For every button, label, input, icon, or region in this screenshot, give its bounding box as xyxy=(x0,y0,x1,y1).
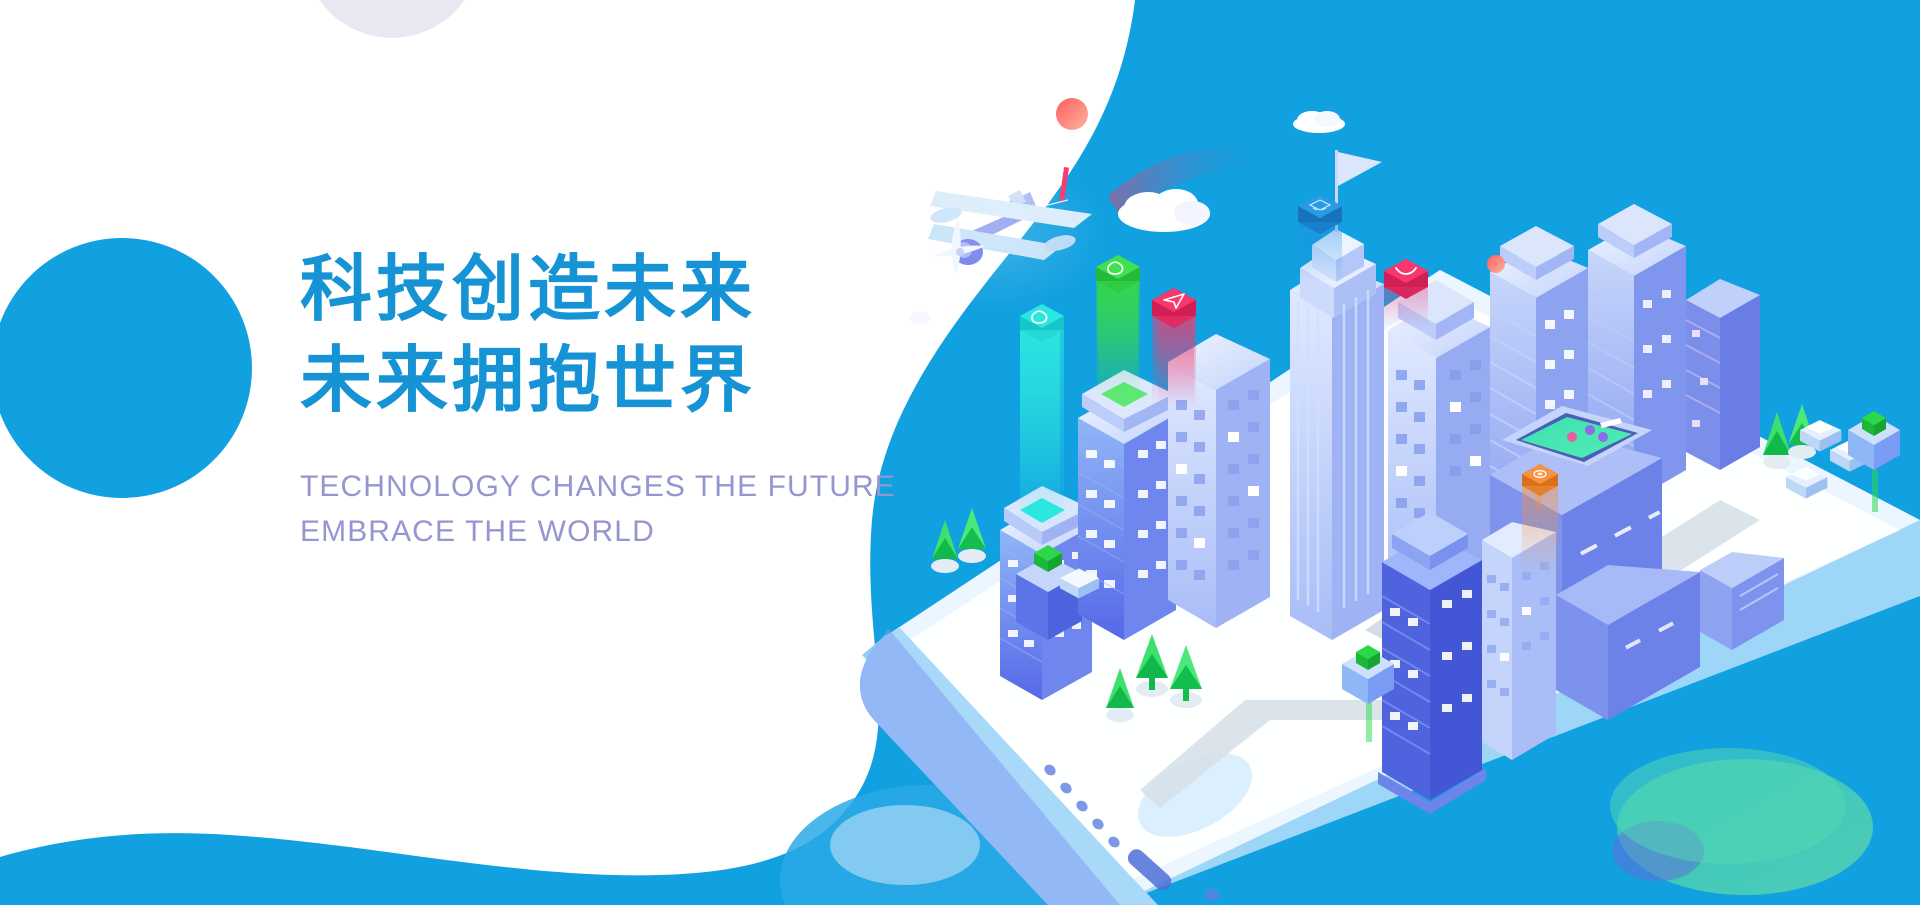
beam-green xyxy=(1096,281,1140,396)
hero-banner: 科技创造未来 未来拥抱世界 TECHNOLOGY CHANGES THE FUT… xyxy=(0,0,1920,905)
beam-pink xyxy=(1152,316,1196,406)
subline-line-2: EMBRACE THE WORLD xyxy=(300,509,920,554)
banner-background xyxy=(0,0,1920,905)
cloud-small xyxy=(1293,111,1345,133)
decor-teal-ellipse-2 xyxy=(1610,748,1846,864)
decor-blue-circle xyxy=(0,238,252,498)
beam-blue xyxy=(1298,222,1342,282)
beam-pink-2 xyxy=(1384,287,1428,327)
building-foreground-dark xyxy=(1378,512,1486,814)
subline: TECHNOLOGY CHANGES THE FUTURE EMBRACE TH… xyxy=(300,464,920,554)
beam-orange xyxy=(1522,486,1558,576)
mic-hole xyxy=(1205,889,1219,901)
sphere-coral-small xyxy=(1487,255,1505,273)
building-purple-right xyxy=(1686,279,1760,470)
hero-copy: 科技创造未来 未来拥抱世界 TECHNOLOGY CHANGES THE FUT… xyxy=(300,245,920,554)
beam-cyan xyxy=(1020,330,1064,530)
sphere-coral-large xyxy=(1056,98,1088,130)
headline-line-2: 未来拥抱世界 xyxy=(300,336,920,427)
headline-line-1: 科技创造未来 xyxy=(300,245,920,336)
subline-line-1: TECHNOLOGY CHANGES THE FUTURE xyxy=(300,464,920,509)
